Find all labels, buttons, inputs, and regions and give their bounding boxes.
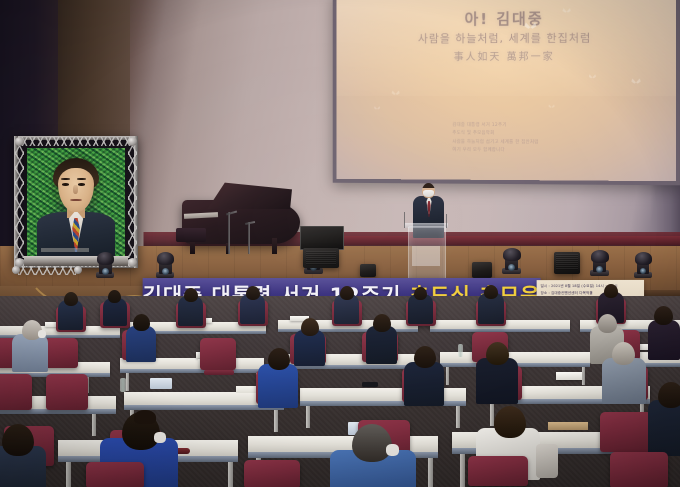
audience-chair	[44, 338, 78, 368]
audience-member-head	[373, 314, 391, 332]
face-mask-icon	[386, 444, 399, 456]
audience-member-head	[246, 286, 260, 300]
kim-dae-jung-portrait-painting	[27, 148, 125, 256]
table-paper	[236, 386, 258, 393]
lectern-microphone	[404, 212, 405, 228]
face-mask-icon	[154, 432, 166, 443]
stage-monitor	[472, 262, 492, 278]
pa-speaker-cabinet	[554, 252, 580, 274]
truss-lattice-right	[128, 146, 137, 258]
lectern-front-panel	[412, 246, 440, 266]
moving-head-light	[503, 248, 521, 261]
audience-member-head	[494, 406, 526, 438]
audience-member-body	[648, 400, 680, 456]
stage-monitor	[360, 264, 376, 277]
moving-head-light	[157, 252, 174, 265]
table-leg	[92, 414, 96, 436]
truss-lattice-top	[18, 137, 134, 146]
face-mask-icon	[38, 330, 46, 338]
stage-light-lens	[162, 268, 169, 275]
screen-subtitle-korean: 사람을 하늘처럼, 세계를 한집처럼	[337, 29, 676, 46]
speaker-grille	[556, 254, 578, 270]
table-edge	[120, 369, 264, 373]
water-bottle	[120, 378, 126, 392]
audience-chair	[46, 374, 88, 410]
audience-member-head	[486, 342, 509, 365]
table-leg	[66, 462, 71, 487]
water-bottle	[458, 344, 463, 357]
moving-head-light	[97, 252, 114, 265]
portrait-eyebrow	[61, 178, 70, 180]
hair-bun	[134, 410, 156, 424]
audience-member-body	[648, 320, 680, 360]
portrait-eye	[62, 183, 69, 186]
audience-chair	[244, 460, 300, 487]
audience-member-head-gray-hair	[598, 314, 617, 333]
audience-member-head	[658, 382, 680, 408]
stage-light-lens	[102, 268, 109, 275]
audience-member-head	[108, 290, 121, 303]
audience-member-head	[340, 286, 354, 300]
truss-corner-node	[128, 258, 137, 267]
audience-chair	[200, 338, 236, 370]
microphone-stand	[248, 222, 250, 254]
audience-chair	[468, 456, 528, 486]
lectern-microphone	[446, 214, 447, 228]
audience-member-head	[268, 348, 290, 370]
portrait-eye	[78, 183, 85, 186]
audience-chair	[600, 412, 652, 452]
mobile-phone	[362, 382, 378, 387]
table-leg	[446, 367, 449, 385]
table-folder	[548, 422, 588, 430]
table-leg	[306, 406, 310, 428]
audience-member-head	[64, 292, 78, 306]
floor-truss-segment	[18, 266, 76, 275]
butterfly-icon	[374, 106, 381, 112]
portrait-nose	[73, 185, 78, 194]
equipment-flight-case	[300, 226, 344, 250]
screen-body-line: 추도식 및 추모음악회	[452, 130, 612, 139]
piano-bench	[176, 228, 206, 242]
audience-member-head	[604, 284, 618, 298]
audience-chair	[610, 452, 668, 487]
audience-member-head	[414, 287, 427, 300]
stage-light-lens	[508, 264, 515, 271]
audience-member-head	[2, 424, 34, 456]
table-leg	[126, 373, 129, 391]
audience-member-body	[258, 364, 298, 408]
table-name-card	[556, 372, 582, 380]
audience-chair	[86, 462, 144, 487]
truss-node	[74, 266, 82, 274]
screen-subtitle-hanja: 事人如天 萬邦一家	[337, 47, 676, 63]
piano-leg	[190, 240, 195, 254]
tissue-box	[150, 378, 172, 389]
memorial-ceremony-photograph: 아! 김대중 사람을 하늘처럼, 세계를 한집처럼 事人如天 萬邦一家 김대중 …	[0, 0, 680, 487]
moving-head-light	[591, 250, 609, 263]
table-leg	[460, 454, 465, 487]
projection-screen: 아! 김대중 사람을 하늘처럼, 세계를 한집처럼 事人如天 萬邦一家 김대중 …	[337, 0, 676, 181]
stage-wall-red-band-highlight	[310, 236, 680, 245]
truss-lattice-left	[15, 146, 24, 258]
truss-corner-node	[128, 137, 137, 146]
audience-member-body	[404, 362, 444, 406]
portrait-signature-plaque	[41, 248, 89, 252]
moving-head-light	[635, 252, 652, 265]
butterfly-icon	[548, 104, 555, 110]
audience-member-head	[484, 285, 498, 299]
table-leg	[456, 406, 460, 428]
screen-body-line: 여기 우리 모두 함께합니다	[452, 147, 612, 156]
stage-light-lens	[640, 268, 646, 274]
table-leg	[274, 410, 278, 432]
face-mask-icon	[423, 190, 434, 197]
audience-member-head	[301, 318, 319, 336]
pa-speaker-cabinet	[303, 248, 339, 268]
audience-member-head	[654, 306, 673, 325]
table-leg	[582, 367, 585, 385]
stage-light-lens	[596, 266, 603, 273]
portrait-eyebrow	[77, 178, 86, 180]
audience-chair	[0, 374, 32, 410]
table-leg	[428, 458, 433, 487]
audience-member-head	[184, 288, 198, 302]
truss-corner-node	[15, 137, 24, 146]
screen-body-text: 김대중 대통령 서거 12주기 추도식 및 추모음악회 사람을 하늘처럼 섬기고…	[452, 122, 612, 156]
audience-member-head-gray-hair	[352, 424, 392, 462]
audience-member-head-gray-hair	[612, 342, 635, 365]
audience-member-head	[414, 346, 436, 368]
microphone-stand	[228, 212, 230, 254]
table-leg	[228, 462, 233, 487]
truss-node	[12, 266, 20, 274]
screen-title: 아! 김대중	[337, 7, 676, 30]
audience-chair-seat	[204, 370, 234, 375]
piano-leg	[272, 238, 277, 254]
handbag	[536, 444, 558, 478]
audience-member-body	[126, 326, 156, 362]
speaker-grille	[306, 251, 336, 265]
audience-member-head	[133, 314, 150, 331]
